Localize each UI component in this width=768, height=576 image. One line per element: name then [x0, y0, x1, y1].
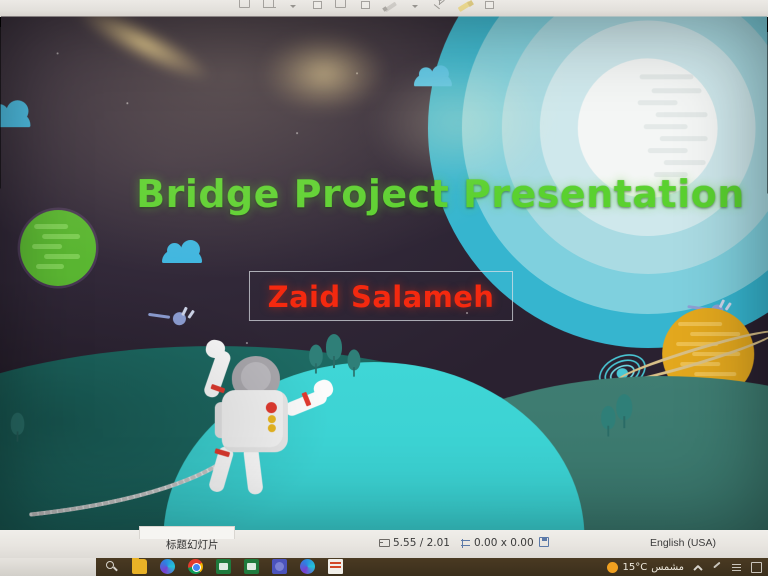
- pen-tool-icon[interactable]: [382, 0, 399, 11]
- astronaut-chest-button-yellow-1: [268, 415, 276, 423]
- drawing-toolbar[interactable]: [0, 0, 768, 17]
- tree: [616, 394, 632, 428]
- pen-dropdown-icon[interactable]: [408, 0, 423, 11]
- weather-condition: مشمس: [651, 562, 684, 573]
- slide-background: Bridge Project Presentation Zaid Salameh: [0, 17, 768, 531]
- highlighter-tool-icon[interactable]: [456, 0, 473, 11]
- textbox-tool-icon[interactable]: [262, 0, 277, 11]
- subtitle-placeholder-box[interactable]: Zaid Salameh: [249, 271, 513, 321]
- edge-icon[interactable]: [160, 559, 175, 574]
- teams-icon[interactable]: [272, 559, 287, 574]
- pen-icon[interactable]: [711, 562, 722, 573]
- weather-widget[interactable]: 15°C مشمس: [607, 562, 684, 573]
- screen-photo: Bridge Project Presentation Zaid Salameh…: [0, 0, 768, 576]
- save-icon[interactable]: [539, 537, 549, 547]
- excel-icon-2[interactable]: [244, 559, 259, 574]
- slide-subtitle[interactable]: Zaid Salameh: [250, 280, 512, 314]
- word-icon[interactable]: [328, 559, 343, 574]
- connector-tool-icon[interactable]: [432, 0, 447, 11]
- astronaut-torso: [222, 390, 288, 452]
- comet-left: [147, 305, 195, 331]
- green-striped-planet: [20, 210, 96, 286]
- slide-size-group: 5.55 / 2.01: [379, 537, 450, 549]
- dropdown-arrow-icon[interactable]: [286, 0, 301, 11]
- windows-taskbar[interactable]: 15°C مشمس: [0, 558, 768, 576]
- slide-size-icon: [379, 539, 390, 547]
- cursor-position-group: 0.00 x 0.00: [461, 537, 534, 549]
- slide-layout-label: 标题幻灯片: [166, 537, 219, 552]
- tree: [11, 413, 25, 442]
- slide-size-value: 5.55 / 2.01: [393, 537, 450, 549]
- weather-temperature: 15°C: [622, 562, 647, 573]
- projector-glare-streak: [69, 17, 218, 93]
- taskbar-left-gap: [0, 558, 96, 576]
- astronaut-visor: [241, 362, 271, 392]
- frame-tool-icon[interactable]: [358, 0, 373, 11]
- cloud-left: [0, 112, 30, 127]
- cursor-position-value: 0.00 x 0.00: [474, 537, 534, 549]
- toolbar-tool-group[interactable]: [238, 0, 497, 11]
- tree: [348, 349, 361, 376]
- chevron-up-icon[interactable]: [693, 563, 702, 572]
- projector-glare-wash: [368, 58, 548, 188]
- star: [296, 132, 298, 134]
- position-icon: [461, 539, 471, 548]
- language-label[interactable]: English (USA): [650, 537, 716, 549]
- taskbar-app-group[interactable]: [104, 559, 343, 574]
- tree: [326, 334, 342, 368]
- status-bar: 标题幻灯片 5.55 / 2.01 0.00 x 0.00 English (U…: [0, 530, 768, 558]
- astronaut-leg-right: [243, 445, 264, 495]
- cloud-mid: [162, 250, 202, 263]
- astronaut: [192, 342, 322, 502]
- box-icon[interactable]: [751, 562, 762, 573]
- callout-tool-icon[interactable]: [334, 0, 349, 11]
- tree: [601, 406, 615, 437]
- star: [126, 102, 128, 104]
- astronaut-chest-button-yellow-2: [268, 424, 276, 432]
- rectangle-tool-icon[interactable]: [310, 0, 325, 11]
- slide-canvas[interactable]: Bridge Project Presentation Zaid Salameh: [0, 17, 768, 531]
- edge-icon-2[interactable]: [300, 559, 315, 574]
- list-icon[interactable]: [731, 562, 742, 573]
- file-explorer-icon[interactable]: [132, 559, 147, 574]
- astronaut-chest-button-red: [266, 402, 277, 413]
- search-icon[interactable]: [104, 559, 119, 574]
- projector-glare-blob: [264, 34, 384, 112]
- sun-icon: [607, 562, 618, 573]
- shape-tool-icon[interactable]: [238, 0, 253, 11]
- excel-icon[interactable]: [216, 559, 231, 574]
- crop-tool-icon[interactable]: [482, 0, 497, 11]
- system-tray[interactable]: 15°C مشمس: [607, 558, 762, 576]
- chrome-icon[interactable]: [188, 559, 203, 574]
- star: [57, 52, 59, 54]
